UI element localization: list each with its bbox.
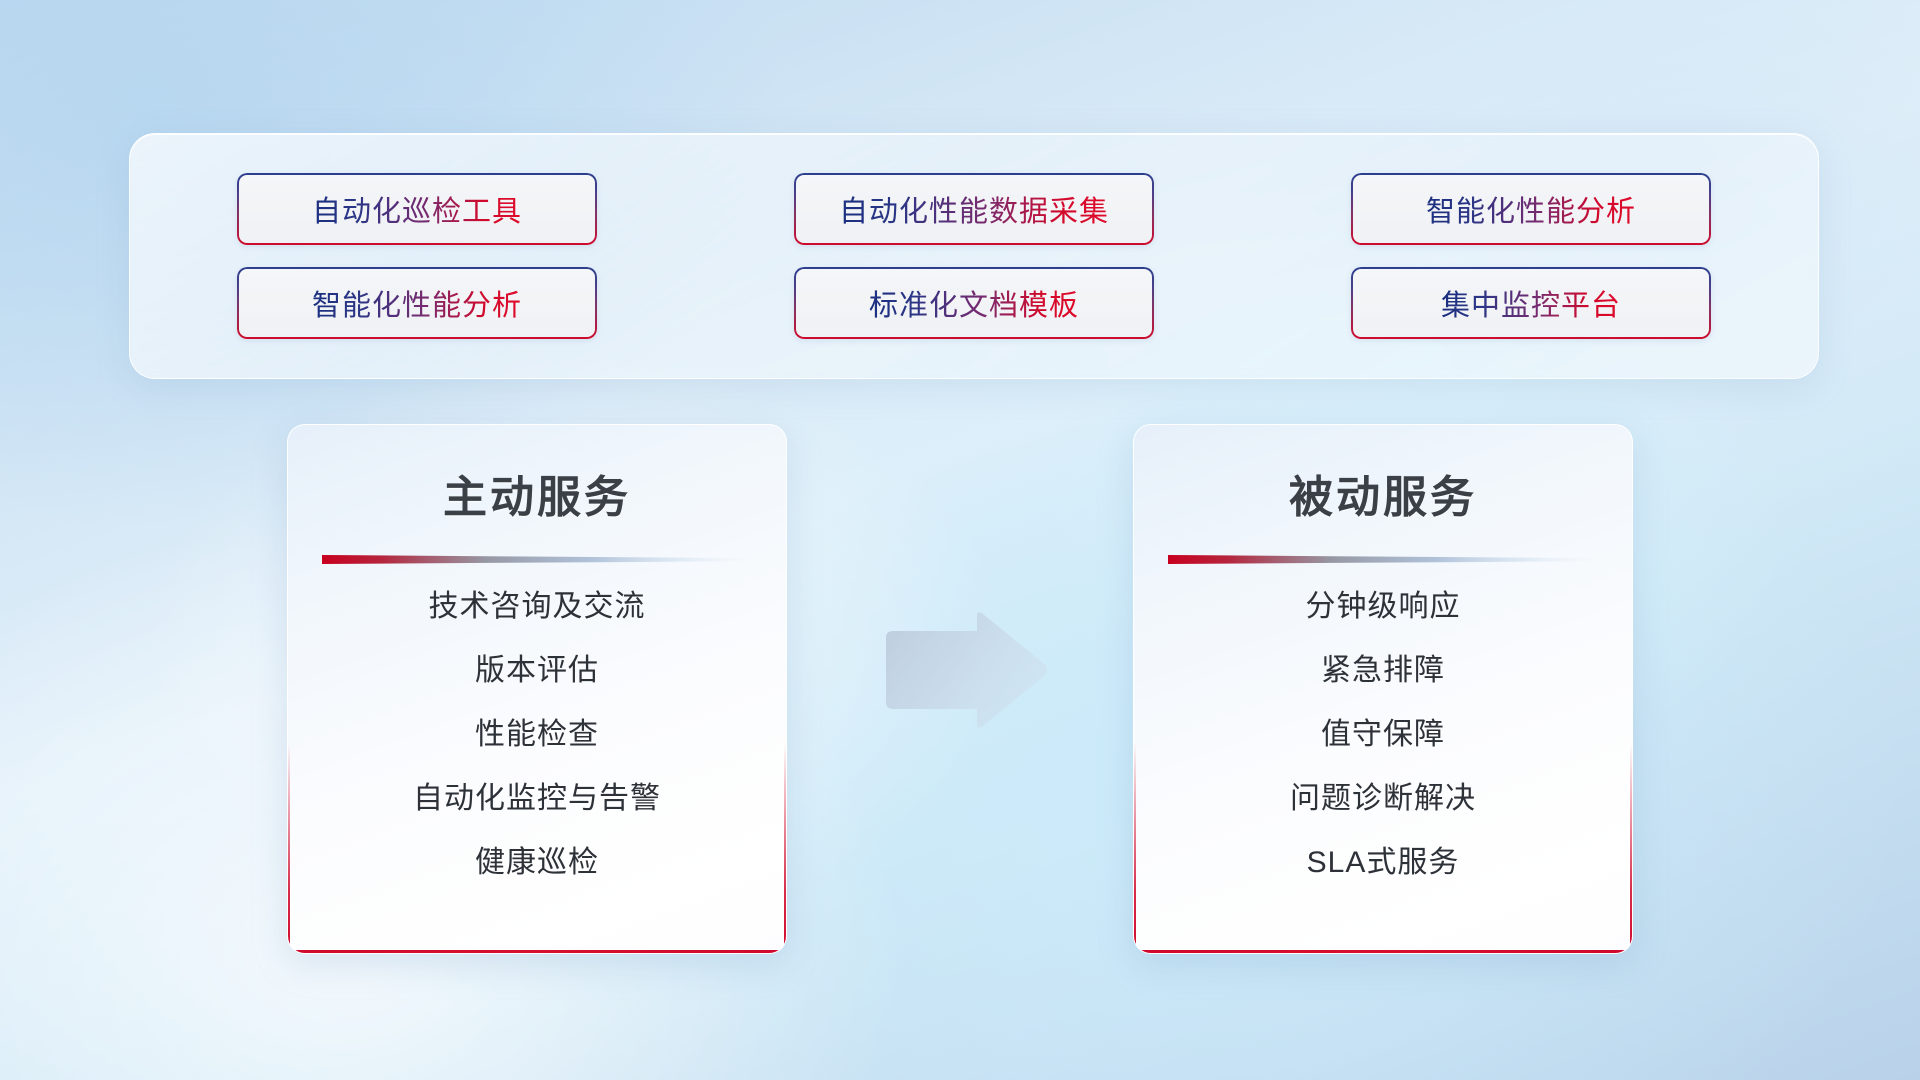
capability-tag-label: 自动化巡检工具 [312, 188, 522, 230]
service-list-active: 技术咨询及交流 版本评估 性能检查 自动化监控与告警 健康巡检 [288, 589, 786, 881]
capability-tag-label: 集中监控平台 [1441, 282, 1621, 324]
diagram-canvas: 自动化巡检工具 自动化性能数据采集 智能化性能分析 智能化性能分析 标准化文档模… [0, 0, 1920, 1080]
service-list-item: 技术咨询及交流 [308, 589, 766, 625]
service-list-passive: 分钟级响应 紧急排障 值守保障 问题诊断解决 SLA式服务 [1134, 589, 1632, 881]
capability-row-1: 自动化巡检工具 自动化性能数据采集 智能化性能分析 [130, 173, 1818, 245]
card-divider-active [322, 553, 752, 565]
service-card-active: 主动服务 技术咨询及交流 版本评估 性能检查 [287, 424, 787, 954]
card-title-active: 主动服务 [288, 461, 786, 525]
capability-tag-intelligent-performance-analysis-2[interactable]: 智能化性能分析 [237, 267, 597, 339]
capability-tag-label: 智能化性能分析 [1426, 188, 1636, 230]
right-arrow-icon [880, 612, 1050, 730]
service-list-item: SLA式服务 [1154, 845, 1612, 881]
capability-panel: 自动化巡检工具 自动化性能数据采集 智能化性能分析 智能化性能分析 标准化文档模… [129, 133, 1819, 379]
capability-tag-intelligent-performance-analysis[interactable]: 智能化性能分析 [1351, 173, 1711, 245]
capability-tag-label: 智能化性能分析 [312, 282, 522, 324]
service-list-item: 健康巡检 [308, 845, 766, 881]
capability-tag-automated-inspection-tool[interactable]: 自动化巡检工具 [237, 173, 597, 245]
service-list-item: 版本评估 [308, 653, 766, 689]
capability-tag-centralized-monitoring-platform[interactable]: 集中监控平台 [1351, 267, 1711, 339]
card-edge-accent [784, 743, 786, 953]
capability-tag-label: 标准化文档模板 [869, 282, 1079, 324]
service-list-item: 紧急排障 [1154, 653, 1612, 689]
card-edge-accent [1630, 743, 1632, 953]
service-card-passive: 被动服务 分钟级响应 紧急排障 值守保障 [1133, 424, 1633, 954]
service-list-item: 分钟级响应 [1154, 589, 1612, 625]
service-list-item: 性能检查 [308, 717, 766, 753]
capability-tag-automated-performance-data-collection[interactable]: 自动化性能数据采集 [794, 173, 1154, 245]
capability-row-2: 智能化性能分析 标准化文档模板 集中监控平台 [130, 267, 1818, 339]
card-divider-passive [1168, 553, 1598, 565]
service-list-item: 值守保障 [1154, 717, 1612, 753]
capability-tag-label: 自动化性能数据采集 [839, 188, 1109, 230]
service-list-item: 问题诊断解决 [1154, 781, 1612, 817]
service-list-item: 自动化监控与告警 [308, 781, 766, 817]
capability-tag-standardized-document-template[interactable]: 标准化文档模板 [794, 267, 1154, 339]
card-title-passive: 被动服务 [1134, 461, 1632, 525]
